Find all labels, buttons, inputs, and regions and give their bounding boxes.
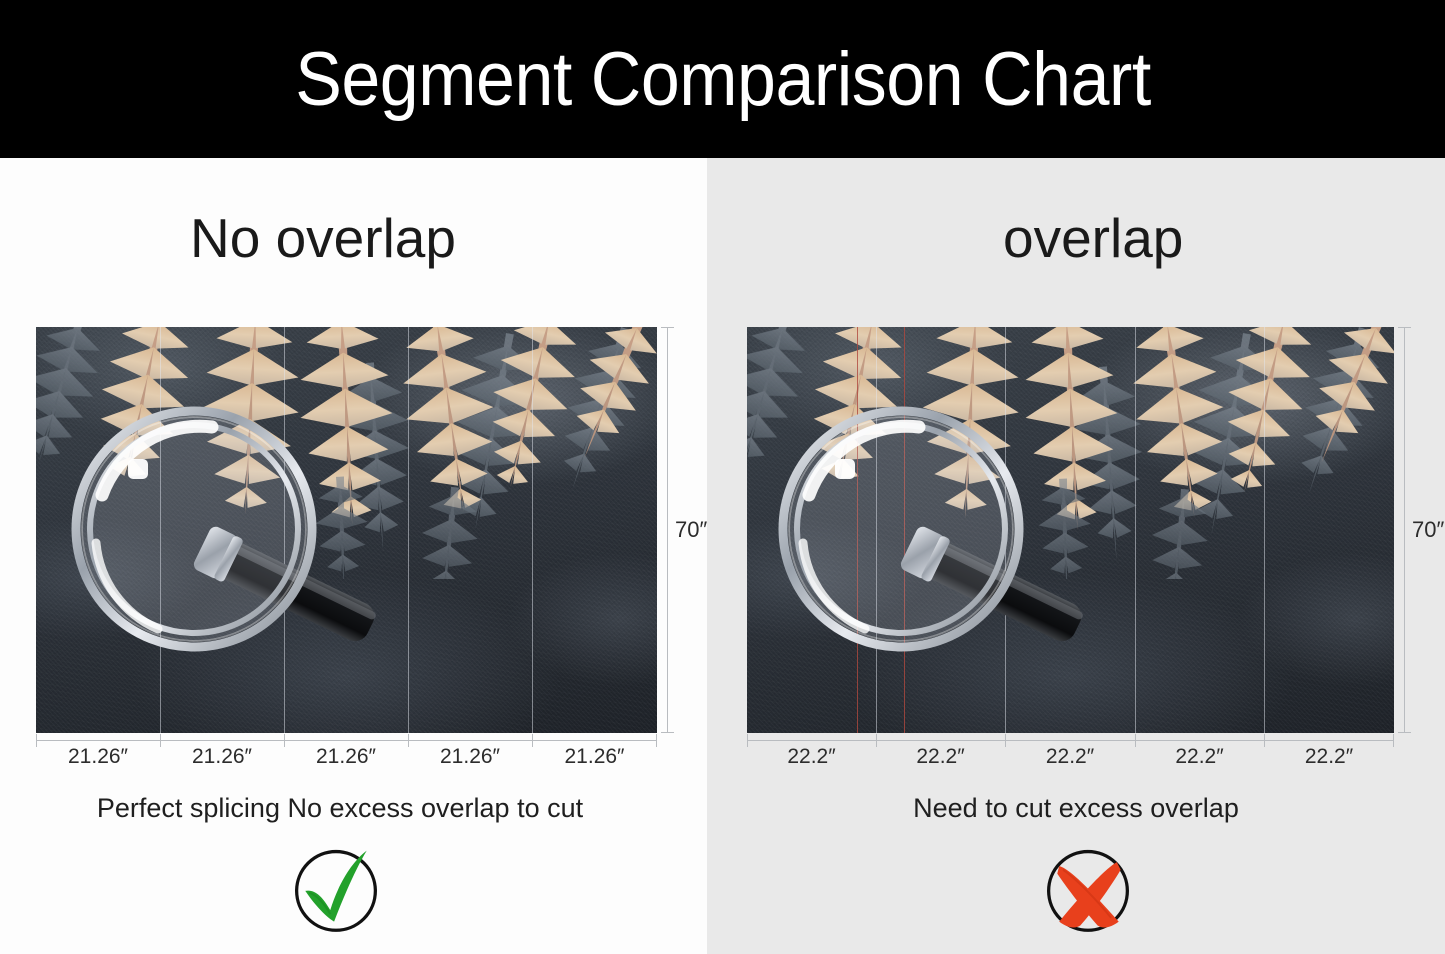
segment-label: 22.2″ <box>787 745 835 769</box>
segment-dimensions-no-overlap: 21.26″ 21.26″ 21.26″ 21.26″ 21.26″ <box>36 740 657 780</box>
segment-label: 21.26″ <box>68 745 128 769</box>
fern-canopy-icon <box>36 327 657 579</box>
segment-label: 22.2″ <box>916 745 964 769</box>
height-label: 70″ <box>1412 517 1444 543</box>
segment-label: 21.26″ <box>192 745 252 769</box>
caption-no-overlap: Perfect splicing No excess overlap to cu… <box>0 793 680 824</box>
segment-label: 21.26″ <box>565 745 625 769</box>
panel-seam-4 <box>1264 327 1265 733</box>
check-mark-icon <box>288 841 384 937</box>
comparison-body: No overlap <box>0 158 1445 954</box>
panel-heading-overlap: overlap <box>1003 206 1183 270</box>
mural-image-overlap <box>747 327 1394 733</box>
segment-label: 22.2″ <box>1175 745 1223 769</box>
panel-seam-3 <box>1135 327 1136 733</box>
height-label: 70″ <box>675 517 707 543</box>
segment-label: 22.2″ <box>1305 745 1353 769</box>
page-header: Segment Comparison Chart <box>0 0 1445 158</box>
segment-label: 22.2″ <box>1046 745 1094 769</box>
panel-seam-4 <box>532 327 533 733</box>
panel-overlap: overlap <box>707 158 1445 954</box>
panel-seam-2 <box>284 327 285 733</box>
panel-no-overlap: No overlap <box>0 158 707 954</box>
cross-mark-icon <box>1040 841 1136 937</box>
panel-heading-no-overlap: No overlap <box>190 206 456 270</box>
fern-canopy-icon <box>747 327 1394 579</box>
mural-image-no-overlap <box>36 327 657 733</box>
panel-seam-3 <box>408 327 409 733</box>
overlap-seam-red-left <box>857 327 858 733</box>
overlap-seam-red-right <box>904 327 905 733</box>
panel-seam-1 <box>160 327 161 733</box>
caption-overlap: Need to cut excess overlap <box>707 793 1445 824</box>
panel-seam-2 <box>1005 327 1006 733</box>
segment-label: 21.26″ <box>316 745 376 769</box>
page-title: Segment Comparison Chart <box>295 36 1151 123</box>
segment-label: 21.26″ <box>440 745 500 769</box>
comparison-chart-page: Segment Comparison Chart No overlap <box>0 0 1445 954</box>
panel-seam-1 <box>876 327 877 733</box>
segment-dimensions-overlap: 22.2″ 22.2″ 22.2″ 22.2″ 22.2″ <box>747 740 1394 780</box>
